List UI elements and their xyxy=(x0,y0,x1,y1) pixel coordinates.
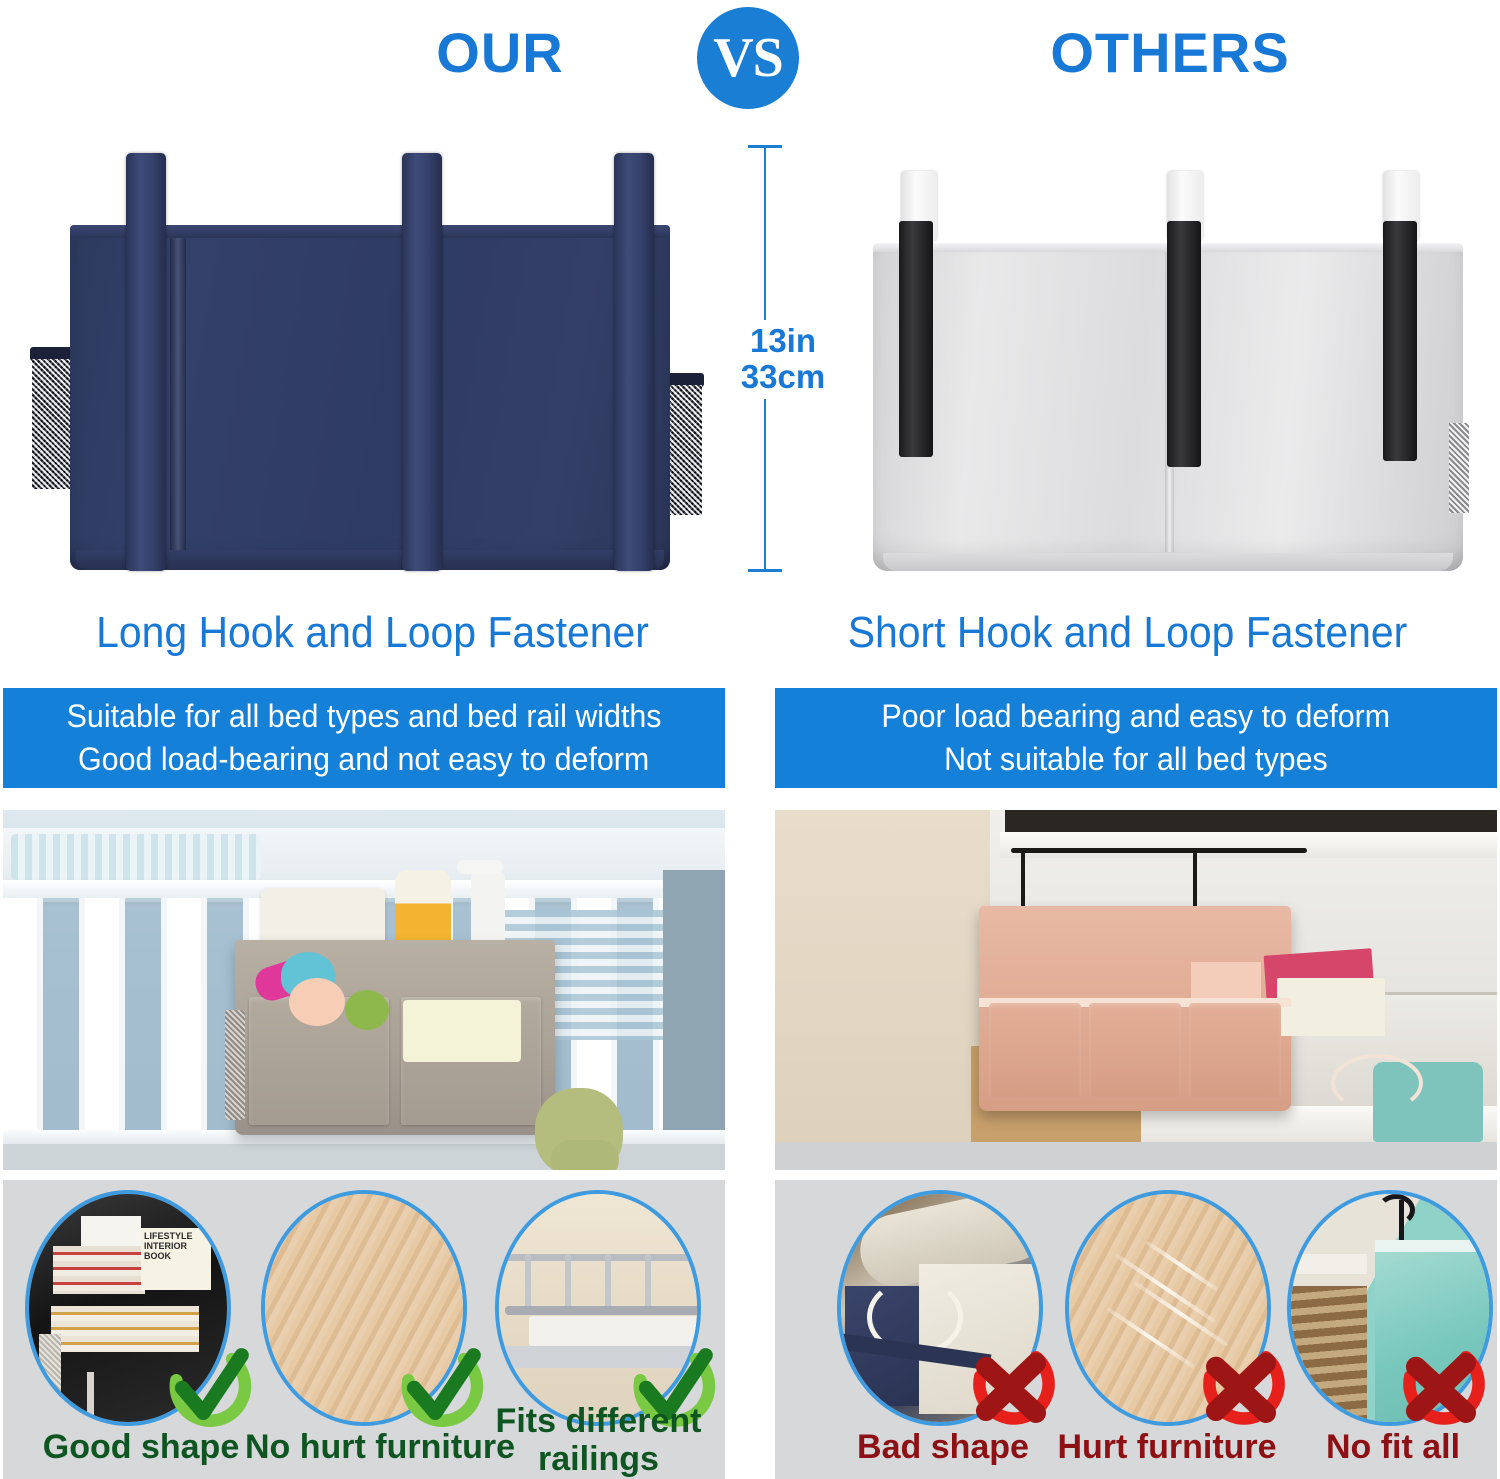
feature-label-fits-railings: Fits different railings xyxy=(481,1402,716,1478)
our-benefit-line-1: Suitable for all bed types and bed rail … xyxy=(67,695,662,738)
wipes-package xyxy=(261,888,385,948)
railing-vertical-1 xyxy=(525,1254,531,1310)
pink-pocket-left xyxy=(989,1003,1081,1097)
long-fastener-strap-2 xyxy=(402,153,442,571)
drawback-label-no-fit-all: No fit all xyxy=(1273,1428,1500,1466)
pink-pocket-middle xyxy=(1089,1003,1181,1097)
room-dark-ledge xyxy=(1005,810,1497,832)
room-trim xyxy=(1000,832,1497,858)
others-drawback-line-2: Not suitable for all bed types xyxy=(944,738,1328,781)
toy-face xyxy=(289,978,345,1026)
mesh-side-pocket-left xyxy=(32,359,74,489)
plush-dinosaur-body xyxy=(551,1140,619,1170)
others-drawbacks-banner: Poor load bearing and easy to deform Not… xyxy=(775,688,1497,788)
cross-icon xyxy=(1393,1338,1489,1434)
our-side-title: OUR xyxy=(330,22,670,84)
others-lifestyle-photo xyxy=(775,810,1497,1170)
others-side-title: OTHERS xyxy=(960,22,1380,84)
railing-bar-top xyxy=(505,1254,701,1261)
others-feature-bar: Bad shape Hurt furniture No fit all xyxy=(775,1180,1497,1479)
room-floor xyxy=(775,1142,1497,1170)
long-fastener-strap-1 xyxy=(126,153,166,571)
charging-cable xyxy=(1331,1054,1423,1112)
comparison-header: OUR VS OTHERS xyxy=(0,0,1500,120)
railing-vertical-3 xyxy=(605,1254,611,1310)
check-icon xyxy=(393,1338,489,1434)
pen-in-pocket xyxy=(87,1372,94,1416)
railing-vertical-2 xyxy=(565,1254,571,1310)
short-fastener-strap-1 xyxy=(899,221,933,457)
organizer-side-mesh-in-use xyxy=(225,1010,245,1120)
crib-pillow xyxy=(11,834,261,880)
pink-pocket-right xyxy=(1189,1003,1281,1097)
dimension-inches: 13in xyxy=(718,323,848,359)
hanging-hook-left xyxy=(1021,848,1025,906)
others-drawback-line-1: Poor load bearing and easy to deform xyxy=(882,695,1391,738)
vs-badge-label: VS xyxy=(713,30,783,86)
railing-bar-bottom xyxy=(505,1306,701,1315)
drawback-label-bad-shape: Bad shape xyxy=(823,1428,1063,1466)
teal-organizer-rim xyxy=(1375,1240,1493,1252)
organizer-mesh-pocket-small xyxy=(39,1334,61,1404)
cross-icon xyxy=(963,1338,1059,1434)
our-fastener-subtitle: Long Hook and Loop Fastener xyxy=(26,608,719,658)
hanging-hook-right xyxy=(1193,848,1197,906)
long-fastener-strap-3 xyxy=(614,153,654,571)
vs-badge: VS xyxy=(697,7,799,109)
dimension-centimeters: 33cm xyxy=(718,359,848,395)
lifestyle-book: LIFESTYLE INTERIOR BOOK xyxy=(141,1228,211,1290)
our-feature-bar: LIFESTYLE INTERIOR BOOK Good shape No hu… xyxy=(3,1180,725,1479)
our-benefits-banner: Suitable for all bed types and bed rail … xyxy=(3,688,725,788)
short-fastener-strap-3 xyxy=(1383,221,1417,461)
organizer-seam-left xyxy=(170,238,186,550)
others-product-image xyxy=(855,135,1485,590)
crib-right-shadow xyxy=(663,870,725,1170)
dimension-label: 13in 33cm xyxy=(718,323,848,395)
dimension-cap-bottom xyxy=(748,569,782,572)
organizer-book-stack-top xyxy=(53,1246,145,1294)
feature-label-no-hurt-furniture: No hurt furniture xyxy=(245,1428,485,1466)
others-fastener-subtitle: Short Hook and Loop Fastener xyxy=(781,608,1474,658)
short-fastener-strap-2 xyxy=(1167,221,1201,467)
dimension-line-upper xyxy=(764,145,766,320)
product-comparison-stage: 13in 33cm xyxy=(0,125,1500,595)
book-in-organizer xyxy=(1277,978,1385,1036)
our-lifestyle-photo xyxy=(3,810,725,1170)
others-organizer-in-use xyxy=(979,906,1291,1111)
check-icon xyxy=(161,1338,257,1434)
railing-vertical-4 xyxy=(645,1254,651,1310)
others-mesh-pocket xyxy=(1449,423,1469,513)
feature-label-good-shape: Good shape xyxy=(21,1428,261,1466)
hanging-rod xyxy=(1011,848,1307,853)
our-product-image xyxy=(18,135,718,590)
toy-green-small xyxy=(345,990,389,1030)
dimension-line-lower xyxy=(764,399,766,571)
diaper-pack xyxy=(403,1000,521,1062)
cross-icon xyxy=(1193,1338,1289,1434)
our-benefit-line-2: Good load-bearing and not easy to deform xyxy=(78,738,649,781)
shelf-edge xyxy=(1291,1254,1367,1274)
room-wall xyxy=(775,810,990,1170)
drawback-label-hurt-furniture: Hurt furniture xyxy=(1047,1428,1287,1466)
shelf-interior xyxy=(1291,1286,1367,1426)
